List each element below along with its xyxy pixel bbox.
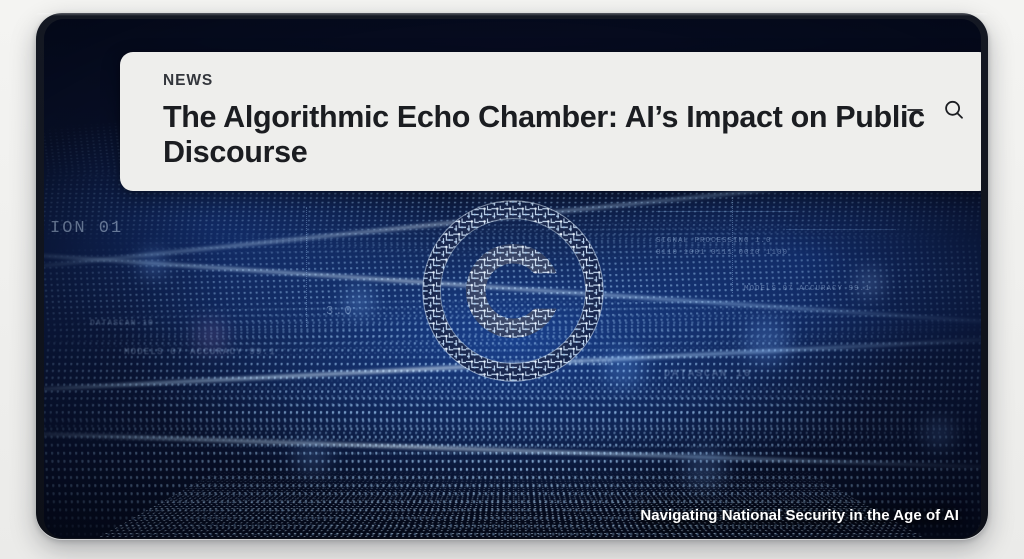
search-icon — [943, 99, 965, 121]
minimize-button[interactable] — [903, 98, 927, 122]
decorative-hline — [786, 229, 896, 230]
bezel-highlight — [36, 13, 988, 16]
bokeh-dot — [140, 251, 166, 277]
decorative-dotted-line — [306, 207, 307, 327]
bokeh-dot — [344, 287, 374, 317]
bokeh-dot — [294, 439, 330, 475]
bokeh-dot — [924, 419, 954, 449]
decorative-hline — [656, 211, 796, 212]
bokeh-dot — [194, 319, 228, 353]
minimize-icon — [905, 100, 925, 120]
bokeh-dot — [684, 449, 726, 491]
bokeh-dot — [856, 269, 884, 297]
news-headline-card: NEWS The Algorithmic Echo Chamber: AI’s … — [120, 52, 981, 191]
card-action-bar — [903, 98, 966, 122]
artwork-caption: Navigating National Security in the Age … — [640, 507, 959, 524]
screenshot-stage: ION 01 3.0 MODELS 07 ACCURACY 99.1 DATAS… — [0, 0, 1024, 559]
device-screen: ION 01 3.0 MODELS 07 ACCURACY 99.1 DATAS… — [44, 19, 981, 538]
page-title: The Algorithmic Echo Chamber: AI’s Impac… — [163, 100, 933, 171]
bokeh-dot — [744, 319, 790, 365]
news-kicker-label: NEWS — [163, 72, 966, 91]
search-button[interactable] — [942, 98, 966, 122]
circuit-copyright-emblem — [415, 193, 611, 389]
